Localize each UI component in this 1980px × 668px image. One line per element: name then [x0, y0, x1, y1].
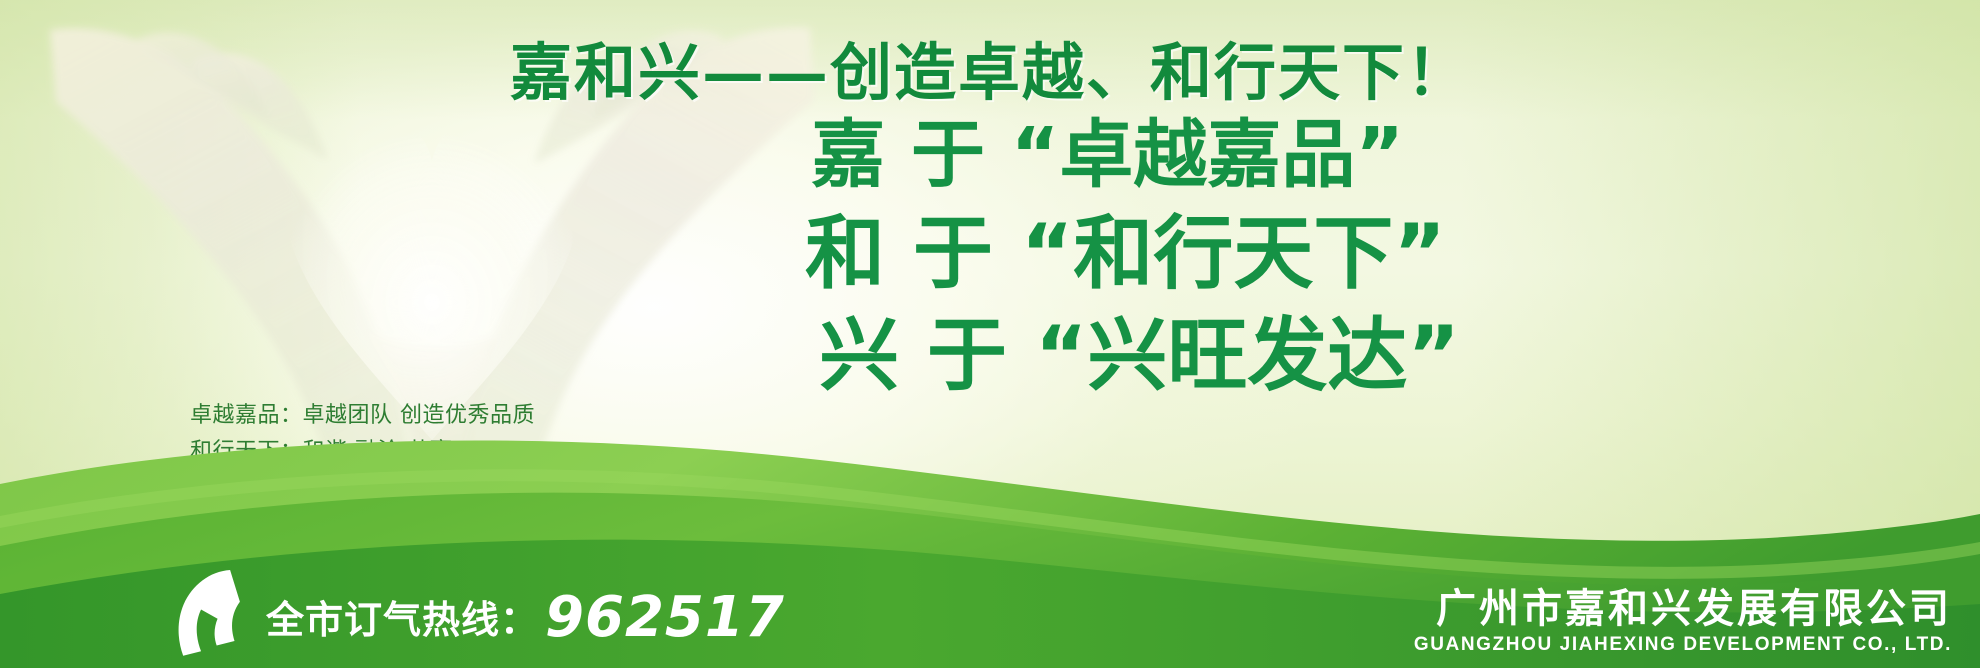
advertising-banner: 嘉和兴——创造卓越、和行天下！ 嘉 于 “卓越嘉品” 和 于 “和行天下” 兴 …	[0, 0, 1980, 668]
note-line-3: 兴旺发达：社会兴旺 公司发达	[190, 469, 535, 505]
page-title: 嘉和兴——创造卓越、和行天下！	[0, 22, 1980, 112]
hotline-block: 全市订气热线： 962517	[168, 566, 785, 654]
slogan-block: 嘉 于 “卓越嘉品” 和 于 “和行天下” 兴 于 “兴旺发达”	[560, 118, 1460, 396]
note-line-2: 和行天下：和谐 融洽 共赢	[190, 434, 535, 470]
notes-block: 卓越嘉品：卓越团队 创造优秀品质 和行天下：和谐 融洽 共赢 兴旺发达：社会兴旺…	[190, 398, 535, 505]
slogan-line-1: 嘉 于 “卓越嘉品”	[560, 118, 1460, 192]
hotline-number: 962517	[545, 585, 785, 650]
company-signature: 广州市嘉和兴发展有限公司 GUANGZHOU JIAHEXING DEVELOP…	[1414, 587, 1952, 656]
hotline-label: 全市订气热线：	[266, 589, 539, 644]
company-name-en: GUANGZHOU JIAHEXING DEVELOPMENT CO., LTD…	[1414, 634, 1952, 656]
company-name-cn: 广州市嘉和兴发展有限公司	[1414, 587, 1952, 632]
slogan-line-2: 和 于 “和行天下”	[560, 214, 1460, 294]
slogan-line-3: 兴 于 “兴旺发达”	[560, 316, 1460, 396]
telephone-handset-icon	[168, 566, 260, 658]
note-line-1: 卓越嘉品：卓越团队 创造优秀品质	[190, 398, 535, 434]
